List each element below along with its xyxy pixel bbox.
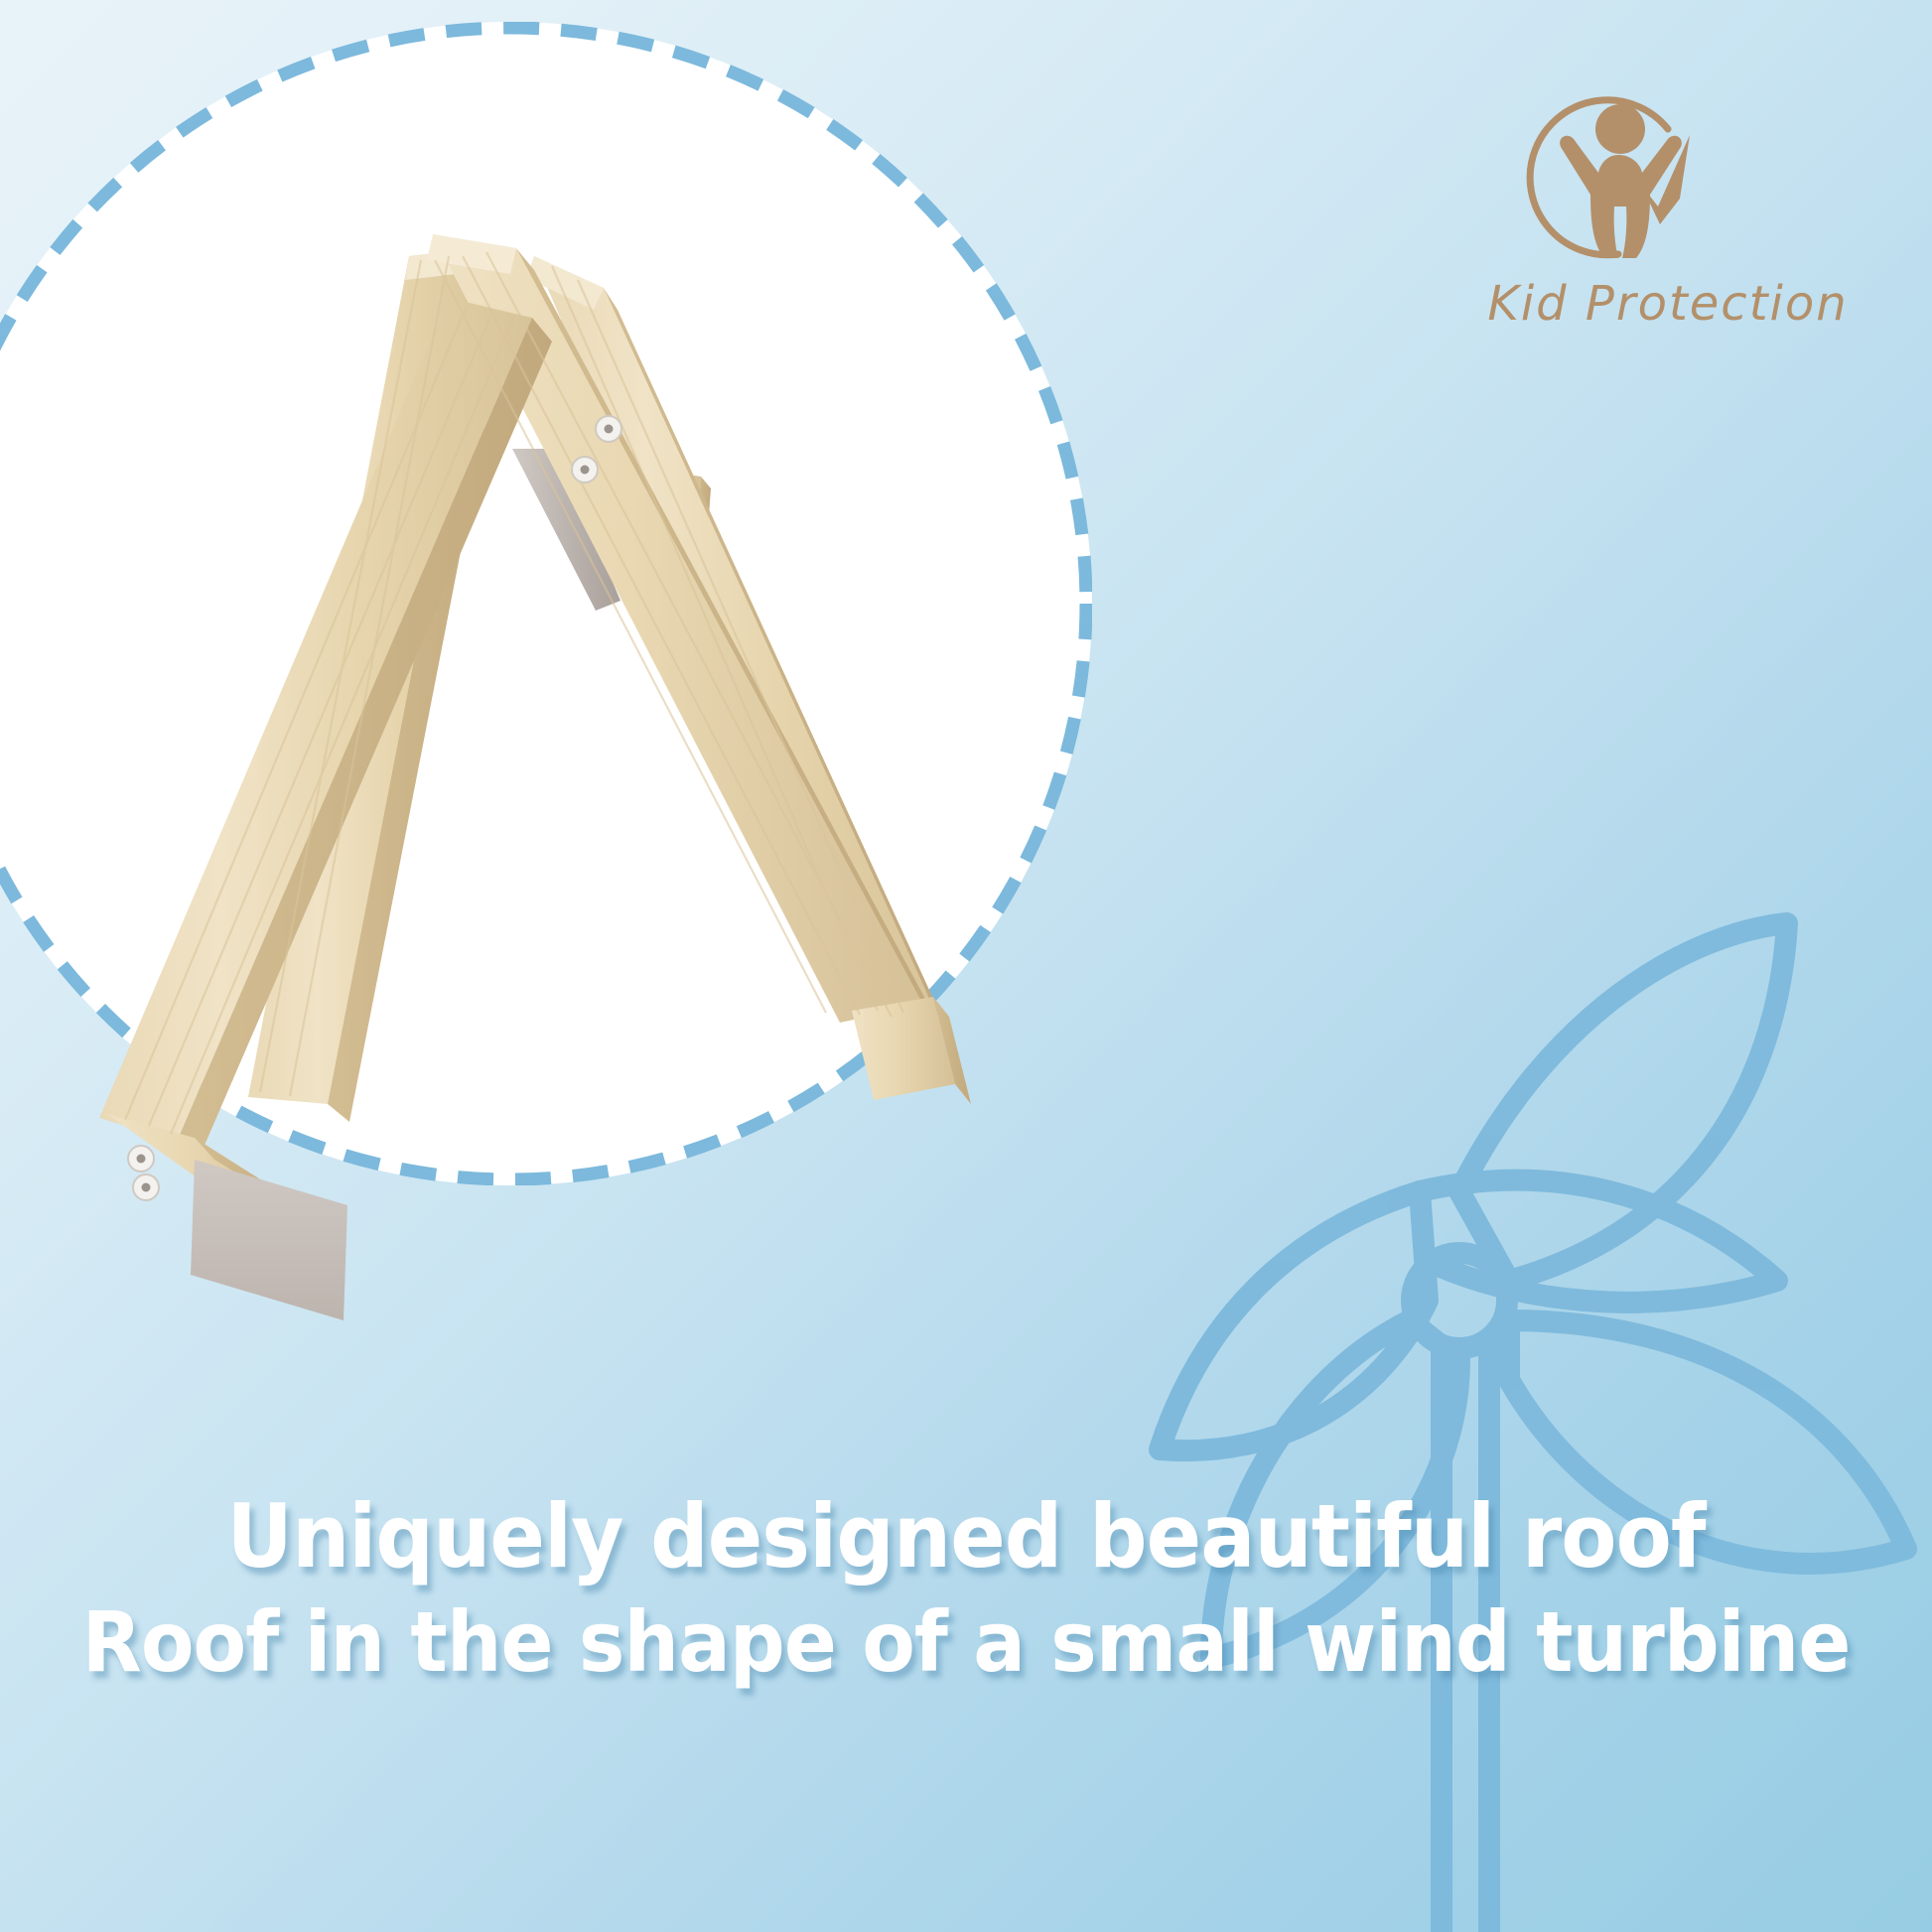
caption-title: Uniquely designed beautiful roof <box>68 1489 1864 1584</box>
kid-protection-badge: Kid Protection <box>1459 77 1876 375</box>
caption-block: Uniquely designed beautiful roof Roof in… <box>0 1489 1932 1688</box>
circle-backdrop <box>0 22 1092 1185</box>
caption-subtitle: Roof in the shape of a small wind turbin… <box>68 1597 1864 1688</box>
pinwheel-icon <box>993 764 1932 1932</box>
product-photo-circle <box>0 22 1092 1185</box>
kid-protection-icon <box>1519 77 1727 276</box>
marketing-image: Kid Protection Uniquely designed beautif… <box>0 0 1932 1932</box>
badge-label: Kid Protection <box>1459 276 1876 332</box>
